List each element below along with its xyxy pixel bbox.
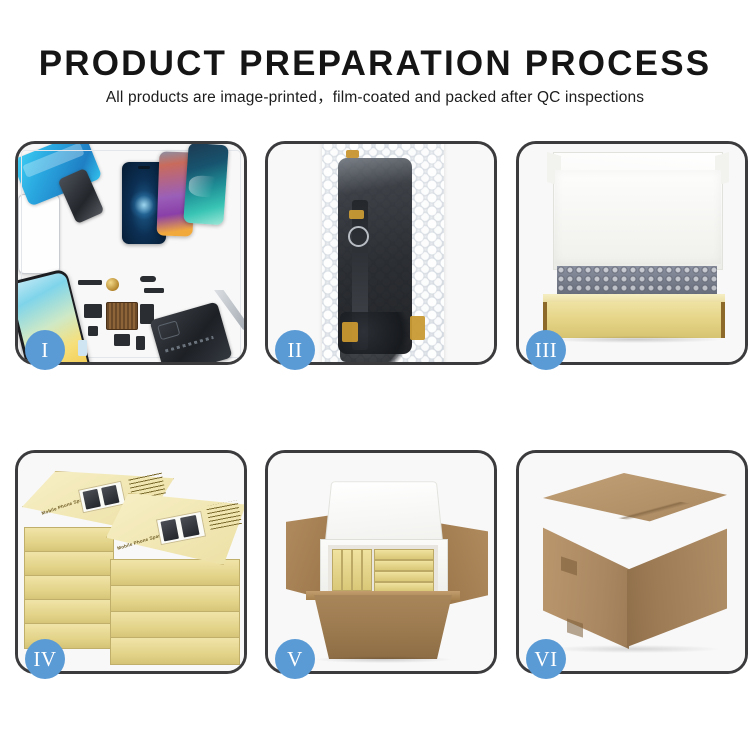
process-step-panel-5: V <box>265 450 497 674</box>
yellow-box-item <box>374 560 434 571</box>
foam-sheet-graphic <box>555 170 721 264</box>
box-edge <box>110 585 240 613</box>
yellow-box-item <box>352 549 362 591</box>
logic-board-graphic <box>106 302 138 330</box>
carton-body-graphic <box>308 595 458 659</box>
yellow-box-item <box>374 571 434 582</box>
yellow-box-front-graphic <box>543 302 725 338</box>
tape-tab-graphic <box>346 150 359 158</box>
step-6-image <box>519 453 745 671</box>
process-step-panel-4: Mobile Phone Spare Parts Mobile Phone Sp… <box>15 450 247 674</box>
home-button-graphic <box>348 226 369 247</box>
box-edge <box>24 599 114 625</box>
part-screw-graphic <box>88 326 98 336</box>
process-step-panel-3: III <box>516 141 748 365</box>
bubble-wrap-bag-graphic <box>322 144 444 362</box>
part-clip-graphic <box>114 334 130 346</box>
speaker-part-graphic <box>106 278 119 291</box>
drop-shadow-graphic <box>316 656 450 663</box>
box-edge <box>110 611 240 639</box>
step-5-image <box>268 453 494 671</box>
part-strip-graphic <box>78 280 102 285</box>
yellow-box-item <box>374 549 434 560</box>
part-bracket-graphic <box>84 304 102 318</box>
step-badge-4: IV <box>25 639 65 679</box>
step-3-image <box>519 144 745 362</box>
tape-tab-graphic <box>410 316 425 340</box>
process-step-panel-2: II <box>265 141 497 365</box>
part-flex-graphic <box>144 288 164 293</box>
yellow-box-item <box>332 549 342 591</box>
drop-shadow-graphic <box>551 645 719 653</box>
product-preparation-infographic: PRODUCT PREPARATION PROCESS All products… <box>0 0 750 750</box>
process-step-grid: I II <box>0 0 750 750</box>
process-step-panel-6: VI <box>516 450 748 674</box>
step-badge-5: V <box>275 639 315 679</box>
box-edge <box>110 637 240 665</box>
yellow-box-item <box>342 549 352 591</box>
tape-tab-graphic <box>349 210 364 219</box>
carton-left-face-graphic <box>543 501 629 649</box>
part-connector-graphic <box>140 276 156 282</box>
step-badge-6: VI <box>526 639 566 679</box>
box-stack-graphic: Mobile Phone Spare Parts Mobile Phone Sp… <box>18 453 244 671</box>
styrofoam-lid-graphic <box>324 481 443 546</box>
step-badge-1: I <box>25 330 65 370</box>
step-2-image <box>268 144 494 362</box>
part-sim-tray-graphic <box>78 340 87 356</box>
part-pin-graphic <box>136 336 145 350</box>
step-4-image: Mobile Phone Spare Parts Mobile Phone Sp… <box>18 453 244 671</box>
drop-shadow-graphic <box>549 336 721 343</box>
box-edge <box>24 551 114 577</box>
yellow-box-item <box>362 549 372 591</box>
process-step-panel-1: I <box>15 141 247 365</box>
step-1-image <box>18 144 244 362</box>
teal-phone-graphic <box>183 144 228 225</box>
tape-tab-graphic <box>342 322 358 342</box>
tempered-glass-graphic <box>18 194 60 274</box>
styrofoam-cavity-graphic <box>328 545 438 593</box>
step-badge-3: III <box>526 330 566 370</box>
box-edge <box>24 527 114 553</box>
box-edge <box>24 575 114 601</box>
step-badge-2: II <box>275 330 315 370</box>
